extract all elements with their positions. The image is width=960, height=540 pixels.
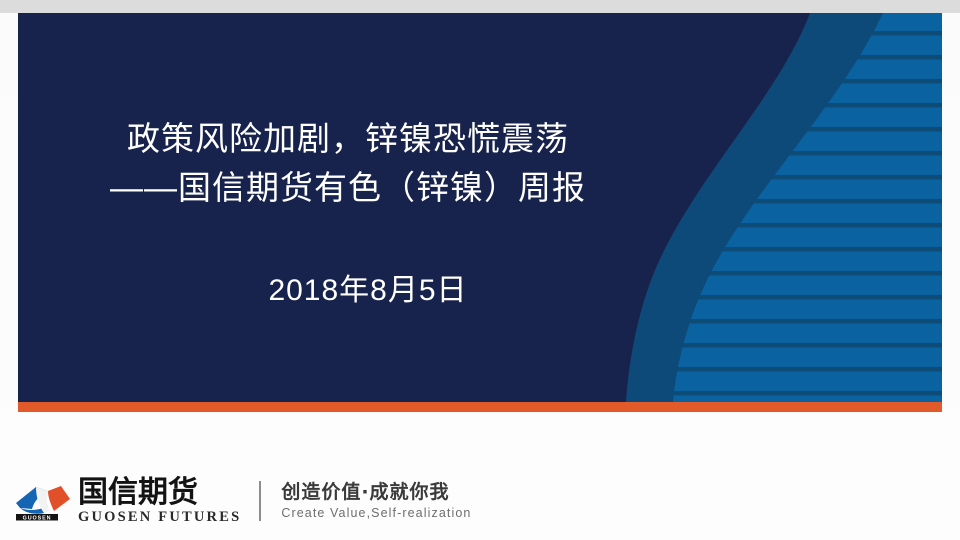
company-name-en: GUOSEN FUTURES bbox=[78, 509, 241, 525]
top-gray-band bbox=[0, 0, 960, 13]
slogan-cn: 创造价值·成就你我 bbox=[281, 481, 471, 503]
title-hero-panel: 政策风险加剧，锌镍恐慌震荡 ——国信期货有色（锌镍）周报 2018年8月5日 bbox=[18, 13, 942, 402]
slogan-en: Create Value,Self-realization bbox=[281, 505, 471, 521]
guosen-diamond-logo-icon: GUOSEN bbox=[14, 481, 72, 521]
company-slogan-block: 创造价值·成就你我 Create Value,Self-realization bbox=[281, 481, 471, 521]
footer-divider bbox=[259, 481, 261, 521]
footer-logo-lockup: GUOSEN 国信期货 GUOSEN FUTURES 创造价值·成就你我 Cre… bbox=[14, 477, 471, 525]
svg-text:GUOSEN: GUOSEN bbox=[23, 515, 52, 521]
slide-title: 政策风险加剧，锌镍恐慌震荡 ——国信期货有色（锌镍）周报 bbox=[18, 114, 678, 212]
company-name-block: 国信期货 GUOSEN FUTURES bbox=[78, 478, 241, 525]
slide-date: 2018年8月5日 bbox=[18, 271, 718, 311]
title-line-subtitle: ——国信期货有色（锌镍）周报 bbox=[18, 163, 678, 212]
orange-accent-bar bbox=[18, 402, 942, 412]
presentation-slide: 政策风险加剧，锌镍恐慌震荡 ——国信期货有色（锌镍）周报 2018年8月5日 G… bbox=[0, 0, 960, 540]
company-name-cn: 国信期货 bbox=[78, 478, 241, 508]
title-line-primary: 政策风险加剧，锌镍恐慌震荡 bbox=[18, 114, 678, 163]
